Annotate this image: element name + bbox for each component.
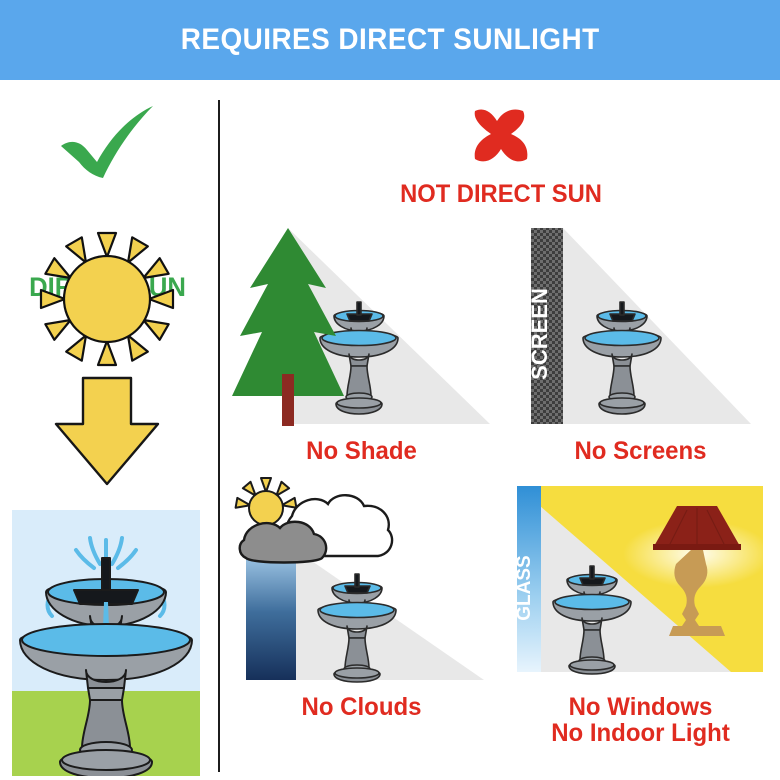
cell-no-shade: No Shade [222, 224, 501, 504]
rain-shaft [246, 556, 296, 680]
no-windows-art: GLASS [501, 480, 780, 695]
tree-trunk [282, 374, 294, 426]
no-clouds-art [222, 480, 501, 695]
sun-icon-wrap [0, 224, 215, 374]
not-direct-sun-column: NOT DIRECT SUN [222, 96, 780, 780]
red-x-icon-wrap [222, 102, 780, 170]
not-direct-sun-header: NOT DIRECT SUN [222, 98, 780, 220]
green-check-icon [53, 104, 163, 180]
no-windows-caption: No Windows No Indoor Light [507, 694, 775, 747]
column-divider [218, 100, 220, 772]
no-windows-caption-line2: No Indoor Light [507, 720, 775, 746]
screen-mesh-illustration: SCREEN [501, 224, 780, 439]
red-x-icon [469, 107, 533, 165]
infographic-page: REQUIRES DIRECT SUNLIGHT DIRECT SUN [0, 0, 780, 780]
down-arrow-icon-wrap [0, 372, 215, 492]
cell-no-screens: SCREEN No Screens [501, 224, 780, 504]
cell-no-clouds: No Clouds [222, 480, 501, 760]
glass-strip-label: GLASS [514, 555, 535, 620]
cloud-rain-illustration [222, 480, 501, 695]
indoor-lamp-glass-illustration: GLASS [501, 480, 780, 695]
screen-strip-label: SCREEN [527, 288, 552, 380]
down-arrow-icon [0, 372, 215, 492]
pine-tree-shadow-illustration [222, 224, 501, 439]
header-banner: REQUIRES DIRECT SUNLIGHT [0, 0, 780, 80]
no-clouds-caption-line1: No Clouds [302, 693, 422, 721]
green-check-icon-wrap [0, 102, 215, 182]
sun-icon [0, 224, 215, 374]
no-clouds-caption: No Clouds [228, 694, 496, 720]
cell-no-windows-no-indoor-light: GLASS [501, 480, 780, 760]
no-shade-art [222, 224, 501, 439]
fountain-illustration-large [12, 510, 200, 776]
not-direct-sun-label: NOT DIRECT SUN [236, 180, 766, 209]
page-title: REQUIRES DIRECT SUNLIGHT [181, 23, 600, 57]
no-windows-caption-line1: No Windows [569, 693, 713, 721]
solar-birdbath-fountain-photo [12, 510, 200, 776]
direct-sun-column: DIRECT SUN [0, 96, 215, 780]
no-shade-caption-line1: No Shade [306, 437, 417, 465]
no-screens-art: SCREEN [501, 224, 780, 439]
no-shade-caption: No Shade [228, 438, 496, 464]
no-screens-caption: No Screens [507, 438, 775, 464]
screen-shadow-shape [563, 228, 751, 424]
no-screens-caption-line1: No Screens [574, 437, 706, 465]
